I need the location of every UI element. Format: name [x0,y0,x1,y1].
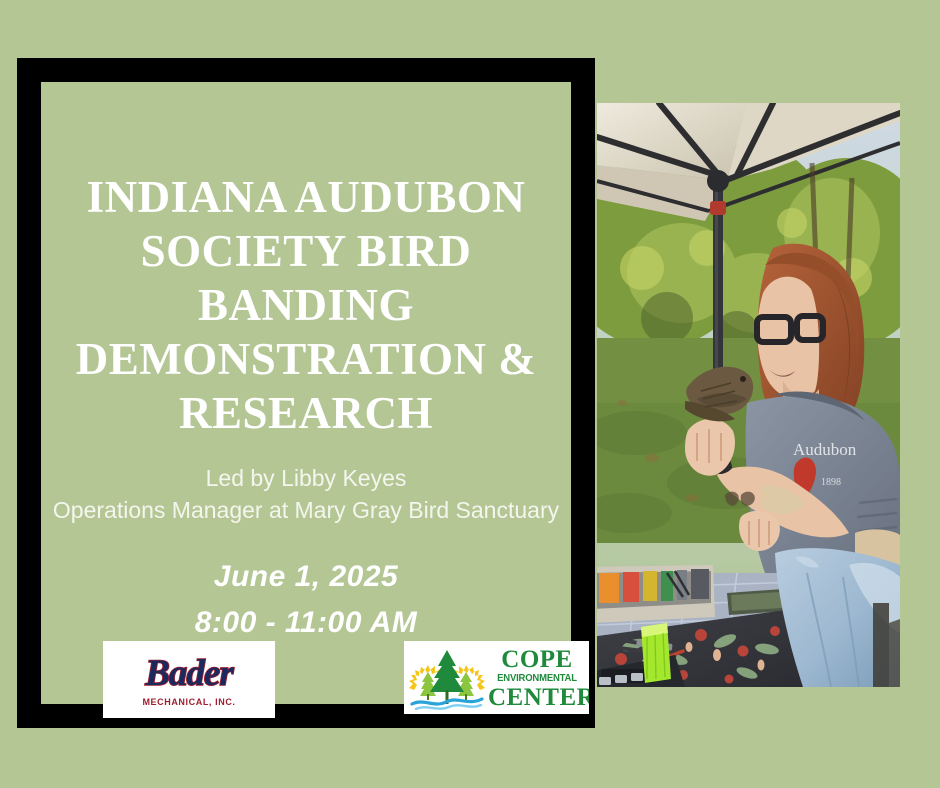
presenter-role-line: Operations Manager at Mary Gray Bird San… [47,494,565,526]
title-line-4: DEMONSTRATION & [47,332,565,386]
cope-tree-sun-icon [408,644,486,712]
event-flyer: INDIANA AUDUBON SOCIETY BIRD BANDING DEM… [0,0,940,788]
title-line-1: INDIANA AUDUBON [47,170,565,224]
cope-line-1: COPE [488,647,586,672]
cope-line-2: ENVIRONMENTAL [490,672,583,685]
title-line-5: RESEARCH [47,386,565,440]
cope-wordmark: COPE ENVIRONMENTAL CENTER [488,647,586,710]
cope-line-3: CENTER [488,685,586,710]
title-line-2: SOCIETY BIRD [47,224,565,278]
svg-text:Audubon: Audubon [793,440,857,459]
page-title: INDIANA AUDUBON SOCIETY BIRD BANDING DEM… [47,170,565,440]
text-content: INDIANA AUDUBON SOCIETY BIRD BANDING DEM… [41,82,571,646]
svg-text:1898: 1898 [821,477,841,488]
sponsor-logo-bader: Bader MECHANICAL, INC. [103,641,275,718]
event-date: June 1, 2025 [47,554,565,600]
datetime-block: June 1, 2025 8:00 - 11:00 AM [47,554,565,646]
event-time: 8:00 - 11:00 AM [47,600,565,646]
presenter-block: Led by Libby Keyes Operations Manager at… [47,462,565,526]
photo-illustration: Audubon Est. 1898 [597,103,900,687]
bader-wordmark: Bader [103,654,275,694]
title-line-3: BANDING [47,278,565,332]
presenter-name-line: Led by Libby Keyes [47,462,565,494]
panel-inner: INDIANA AUDUBON SOCIETY BIRD BANDING DEM… [41,82,571,704]
sponsor-logo-cope: COPE ENVIRONMENTAL CENTER [404,641,589,714]
framed-panel: INDIANA AUDUBON SOCIETY BIRD BANDING DEM… [17,58,595,728]
bader-tagline: MECHANICAL, INC. [103,697,275,707]
event-photo: Audubon Est. 1898 [597,103,900,687]
